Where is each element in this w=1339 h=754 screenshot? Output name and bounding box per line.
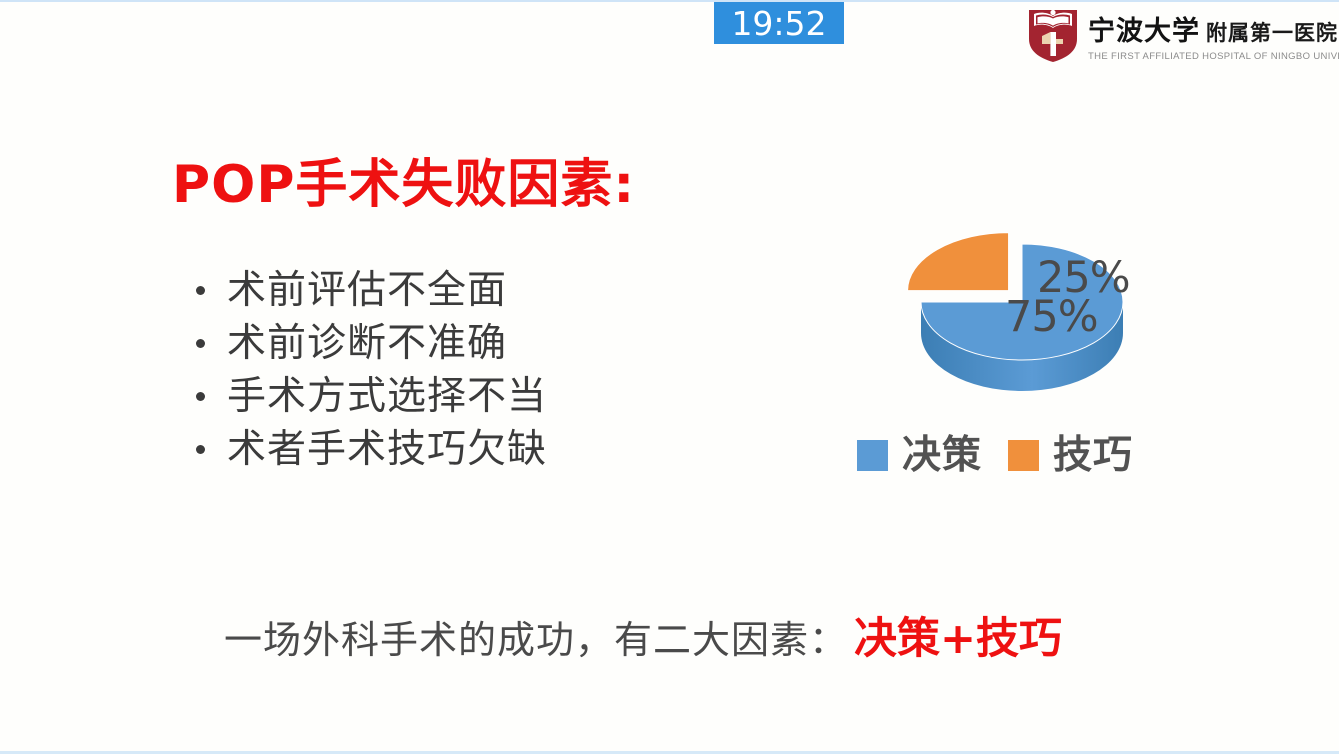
bullet-dot-icon (196, 445, 205, 454)
list-item: 术者手术技巧欠缺 (196, 423, 547, 476)
bullet-dot-icon (196, 286, 205, 295)
legend-label: 技巧 (1053, 436, 1133, 475)
shield-book-emblem-icon (1026, 6, 1080, 64)
pie-chart-graphic (880, 230, 1150, 395)
legend-swatch-icon (1008, 440, 1039, 471)
logo-text-block: 宁波大学 附属第一医院 THE FIRST AFFILIATED HOSPITA… (1088, 6, 1339, 62)
list-item-label: 术前评估不全面 (227, 271, 507, 310)
failure-factor-list: 术前评估不全面 术前诊断不准确 手术方式选择不当 术者手术技巧欠缺 (196, 264, 547, 476)
page-title: POP手术失败因素: (172, 142, 635, 217)
presentation-slide: 19:52 宁波大学 附属第一医院 THE FIRST AFFILIATED H… (0, 0, 1339, 754)
list-item-label: 术前诊断不准确 (227, 324, 507, 363)
list-item: 手术方式选择不当 (196, 370, 547, 423)
logo-english-name: THE FIRST AFFILIATED HOSPITAL OF NINGBO … (1088, 51, 1339, 62)
legend-label: 决策 (902, 436, 982, 475)
legend-swatch-icon (857, 440, 888, 471)
countdown-timer-badge: 19:52 (714, 2, 844, 44)
pie-slice-top (908, 233, 1009, 291)
timer-value: 19:52 (731, 7, 826, 40)
footer-lead-text: 一场外科手术的成功，有二大因素： (224, 609, 848, 664)
bullet-dot-icon (196, 339, 205, 348)
bullet-dot-icon (196, 392, 205, 401)
hospital-logo: 宁波大学 附属第一医院 THE FIRST AFFILIATED HOSPITA… (1026, 6, 1334, 68)
legend-item-juece: 决策 (857, 436, 982, 475)
list-item-label: 术者手术技巧欠缺 (227, 430, 547, 469)
footer-conclusion: 一场外科手术的成功，有二大因素： 决策+技巧 (224, 604, 1062, 666)
list-item: 术前评估不全面 (196, 264, 547, 317)
logo-university-name: 宁波大学 (1088, 9, 1200, 48)
footer-emphasis-text: 决策+技巧 (854, 604, 1062, 666)
pie-chart: 25% 75% (880, 230, 1150, 395)
list-item-label: 手术方式选择不当 (227, 377, 547, 416)
pie-chart-legend: 决策 技巧 (857, 436, 1159, 475)
logo-hospital-name: 附属第一医院 (1206, 17, 1338, 47)
logo-chinese-line: 宁波大学 附属第一医院 (1088, 9, 1339, 48)
legend-item-jiqiao: 技巧 (1008, 436, 1133, 475)
list-item: 术前诊断不准确 (196, 317, 547, 370)
